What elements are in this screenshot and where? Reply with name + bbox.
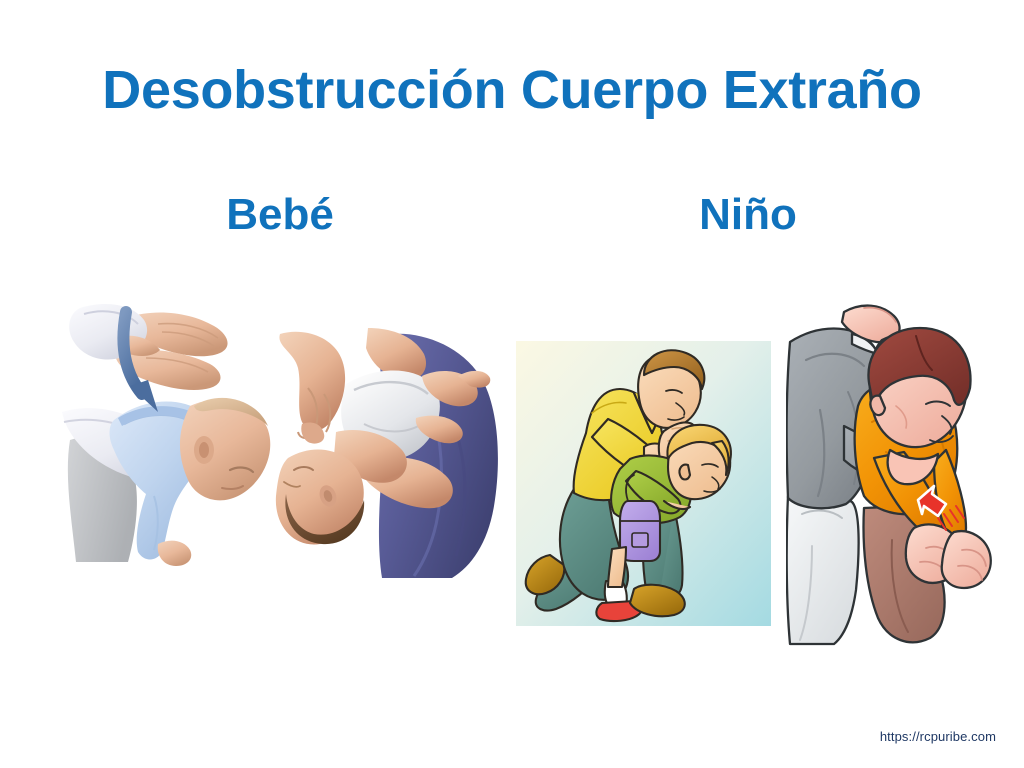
column-heading-nino: Niño xyxy=(618,192,878,238)
figure-child-heimlich xyxy=(786,300,1018,650)
column-heading-bebe: Bebé xyxy=(150,192,410,238)
figure-infant-chest-thrusts xyxy=(272,328,504,580)
page-title: Desobstrucción Cuerpo Extraño xyxy=(0,62,1024,119)
footer-url[interactable]: https://rcpuribe.com xyxy=(880,729,996,744)
figure-child-back-blows xyxy=(516,341,771,626)
slide-canvas: Desobstrucción Cuerpo Extraño Bebé Niño xyxy=(0,0,1024,768)
figure-infant-back-blows xyxy=(62,300,292,572)
